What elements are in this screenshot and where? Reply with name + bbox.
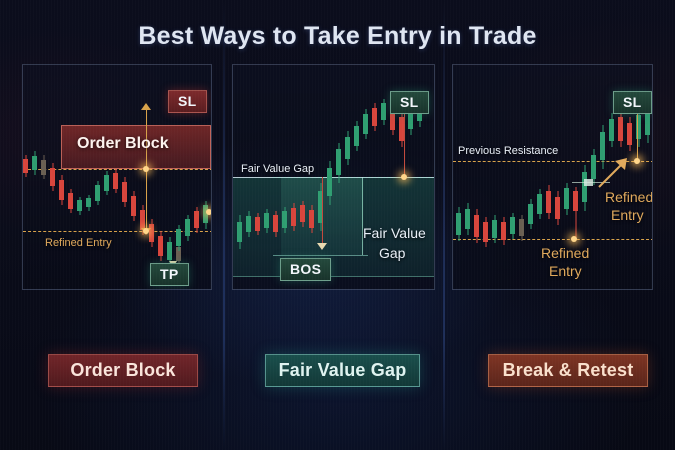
candle <box>237 215 242 249</box>
panel-separator-1 <box>223 0 225 450</box>
candle <box>41 155 46 179</box>
refined-entry-marker-dot <box>571 236 577 242</box>
refined-entry-bottom-label-line2: Entry <box>549 263 582 279</box>
infographic-root: Best Ways to Take Entry in Trade Order B… <box>0 0 675 450</box>
candle <box>618 111 623 147</box>
candle <box>291 203 296 231</box>
refined-entry-level <box>23 231 212 232</box>
fair-value-gap-label-line1: Fair Value <box>363 225 426 241</box>
candle <box>627 117 632 151</box>
candle <box>50 163 55 191</box>
candle <box>345 131 350 165</box>
candle <box>309 205 314 233</box>
candle <box>336 143 341 183</box>
sl-arrow-line <box>404 111 405 177</box>
candle <box>68 189 73 213</box>
candle <box>474 209 479 243</box>
panel-fair-value-gap: Fair Value Gap Fair Value Gap SL BOS <box>232 64 435 290</box>
candle <box>609 113 614 147</box>
candle <box>354 121 359 151</box>
candle <box>546 185 551 219</box>
candle <box>483 217 488 247</box>
candle <box>131 191 136 221</box>
candle <box>113 169 118 193</box>
candle <box>300 201 305 227</box>
candle <box>456 207 461 241</box>
caption-break-and-retest: Break & Retest <box>488 354 648 387</box>
candle <box>122 177 127 207</box>
retest-entry-arrow-icon <box>597 155 631 189</box>
page-title: Best Ways to Take Entry in Trade <box>0 22 675 51</box>
sl-arrow-line <box>637 113 638 163</box>
caption-fair-value-gap: Fair Value Gap <box>265 354 420 387</box>
candle <box>185 215 190 241</box>
candle <box>176 225 181 251</box>
badge-bos: BOS <box>280 258 331 281</box>
candle <box>381 99 386 125</box>
bos-arrow-line <box>322 177 323 245</box>
previous-resistance-label: Previous Resistance <box>458 145 558 158</box>
candle <box>465 203 470 235</box>
candle <box>23 155 28 177</box>
candle <box>32 151 37 175</box>
candle <box>564 183 569 215</box>
candle <box>537 189 542 219</box>
refined-entry-marker-dot <box>143 228 149 234</box>
candle <box>246 211 251 237</box>
candle <box>555 191 560 225</box>
fair-value-gap-top-label: Fair Value Gap <box>241 163 314 176</box>
badge-sl: SL <box>613 91 652 114</box>
candle <box>582 165 587 211</box>
candle <box>282 207 287 233</box>
sl-arrow-head <box>141 103 151 110</box>
badge-sl: SL <box>390 91 429 114</box>
tp-arrow-line <box>146 169 147 231</box>
candle <box>203 201 208 229</box>
candle <box>372 103 377 131</box>
panel-break-and-retest: Previous Resistance Refined Entry Refine… <box>452 64 653 290</box>
retest-marker-box <box>584 179 593 186</box>
candle <box>255 213 260 235</box>
fair-value-gap-label-line2: Gap <box>379 245 405 261</box>
refined-entry-right-label-line2: Entry <box>611 207 644 223</box>
badge-tp: TP <box>150 263 189 286</box>
candle <box>510 213 515 239</box>
candle <box>77 197 82 215</box>
sl-entry-marker-dot <box>634 158 640 164</box>
candle <box>59 175 64 205</box>
sl-entry-marker-dot <box>401 174 407 180</box>
order-block-zone-label: Order Block <box>77 135 169 153</box>
candle <box>573 187 578 239</box>
refined-entry-label: Refined Entry <box>45 237 112 250</box>
bos-arrow-head <box>317 243 327 250</box>
candle <box>264 209 269 233</box>
badge-sl: SL <box>168 90 207 113</box>
candle <box>273 211 278 237</box>
candle <box>194 207 199 233</box>
caption-order-block: Order Block <box>48 354 198 387</box>
refined-entry-right-label-line1: Refined <box>605 189 653 205</box>
candle <box>95 181 100 205</box>
candle <box>158 231 163 261</box>
panel-order-block: Order Block <box>22 64 212 290</box>
candle <box>86 195 91 211</box>
price-marker-dot <box>206 209 212 215</box>
entry-marker-dot <box>143 166 149 172</box>
fvg-top-dashed <box>273 177 435 178</box>
candle <box>528 199 533 229</box>
candle <box>327 161 332 205</box>
candle <box>104 171 109 195</box>
panel-separator-2 <box>443 0 445 450</box>
candle <box>492 215 497 243</box>
candle <box>519 215 524 241</box>
bos-level <box>273 255 368 256</box>
candle <box>363 109 368 139</box>
candle <box>501 217 506 245</box>
refined-entry-bottom-label-line1: Refined <box>541 245 589 261</box>
